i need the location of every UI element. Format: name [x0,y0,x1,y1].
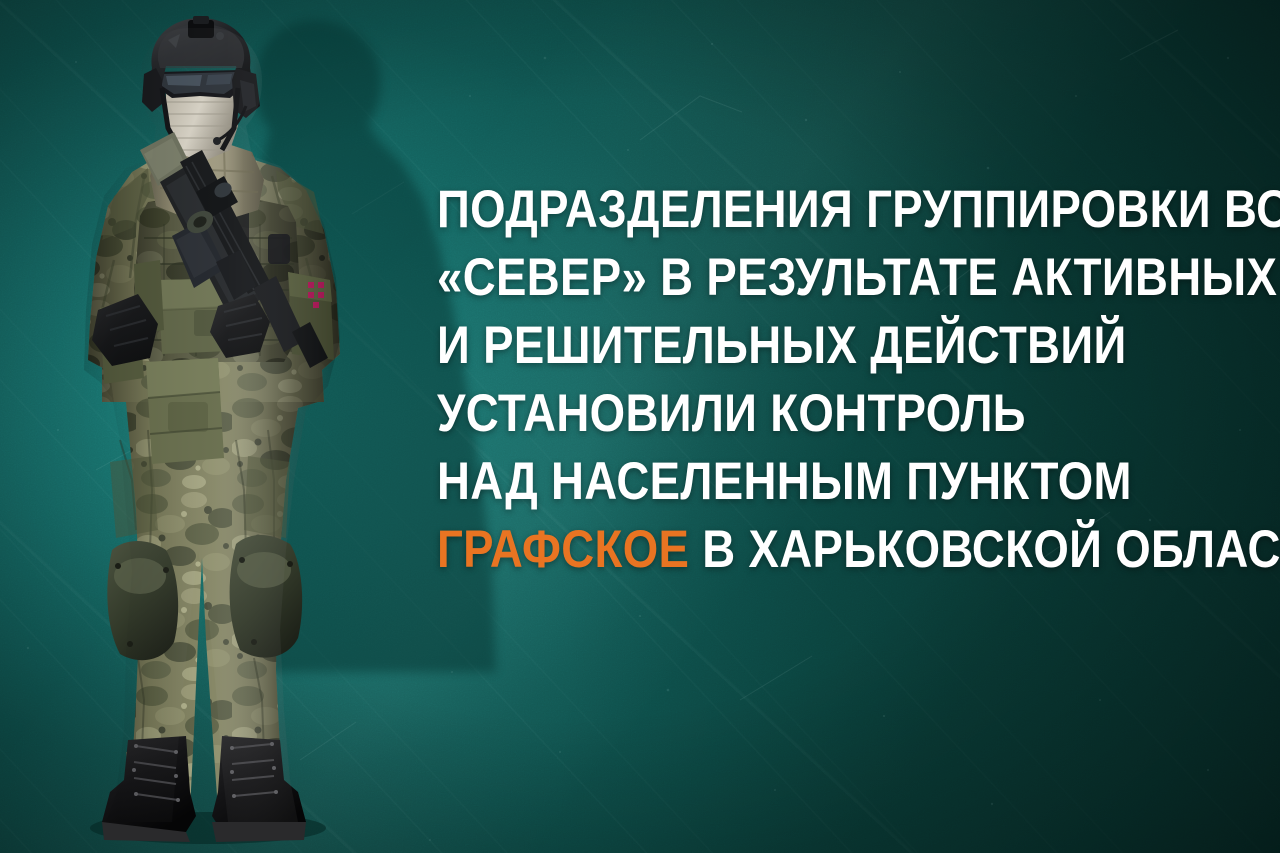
headline-line-5: НАД НАСЕЛЕННЫМ ПУНКТОМ [437,448,1091,516]
headline-line-4: УСТАНОВИЛИ КОНТРОЛЬ [437,380,1091,448]
headline-line-6-rest: В ХАРЬКОВСКОЙ ОБЛАСТИ [689,520,1280,579]
headline-line-6: ГРАФСКОЕ В ХАРЬКОВСКОЙ ОБЛАСТИ [437,516,1091,584]
settlement-name: ГРАФСКОЕ [437,520,689,579]
headline-line-1: ПОДРАЗДЕЛЕНИЯ ГРУППИРОВКИ ВОЙСК [437,176,1091,244]
headline-line-2: «СЕВЕР» В РЕЗУЛЬТАТЕ АКТИВНЫХ [437,244,1091,312]
soldier-figure [40,10,400,845]
poster-canvas: ПОДРАЗДЕЛЕНИЯ ГРУППИРОВКИ ВОЙСК «СЕВЕР» … [0,0,1280,853]
headline-line-3: И РЕШИТЕЛЬНЫХ ДЕЙСТВИЙ [437,312,1091,380]
headline-block: ПОДРАЗДЕЛЕНИЯ ГРУППИРОВКИ ВОЙСК «СЕВЕР» … [437,176,1197,584]
